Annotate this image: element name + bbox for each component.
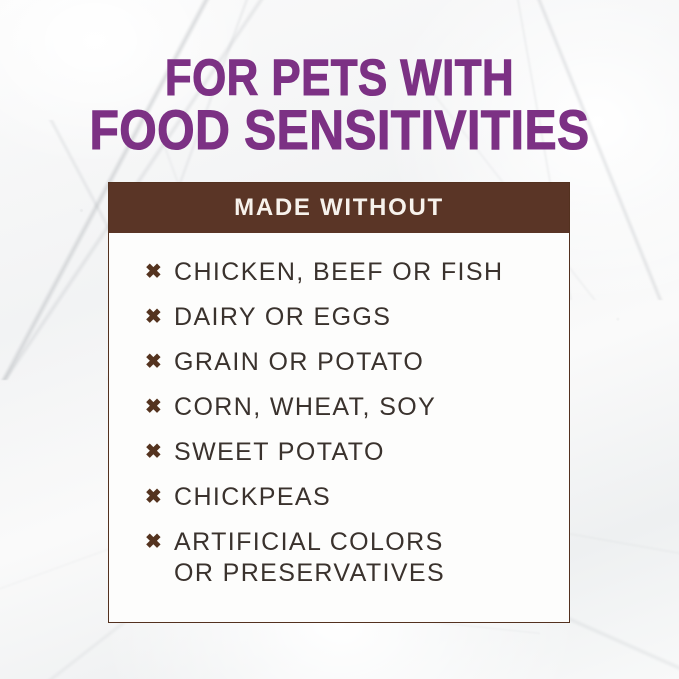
list-item: ✖ SWEET POTATO: [145, 437, 551, 468]
list-item: ✖ DAIRY OR EGGS: [145, 302, 551, 333]
made-without-card-body: ✖ CHICKEN, BEEF OR FISH ✖ DAIRY OR EGGS …: [109, 233, 569, 589]
list-item: ✖ ARTIFICIAL COLORS OR PRESERVATIVES: [145, 527, 551, 589]
page-title-line-2: FOOD SENSITIVITIES: [48, 104, 632, 156]
list-item: ✖ CHICKEN, BEEF OR FISH: [145, 257, 551, 288]
list-item-label: CHICKEN, BEEF OR FISH: [166, 257, 503, 288]
made-without-card: MADE WITHOUT ✖ CHICKEN, BEEF OR FISH ✖ D…: [108, 182, 570, 623]
list-item: ✖ CORN, WHEAT, SOY: [145, 392, 551, 423]
list-item-label: SWEET POTATO: [166, 437, 385, 468]
made-without-header-title: MADE WITHOUT: [234, 194, 444, 222]
list-item: ✖ CHICKPEAS: [145, 482, 551, 513]
cross-icon: ✖: [145, 437, 166, 467]
list-item-label: CHICKPEAS: [166, 482, 331, 513]
cross-icon: ✖: [145, 347, 166, 377]
cross-icon: ✖: [145, 257, 166, 287]
cross-icon: ✖: [145, 392, 166, 422]
excluded-ingredients-list: ✖ CHICKEN, BEEF OR FISH ✖ DAIRY OR EGGS …: [109, 257, 569, 589]
list-item: ✖ GRAIN OR POTATO: [145, 347, 551, 378]
list-item-label: GRAIN OR POTATO: [166, 347, 424, 378]
page-title-line-1: FOR PETS WITH: [48, 52, 632, 104]
cross-icon: ✖: [145, 302, 166, 332]
cross-icon: ✖: [145, 527, 166, 557]
list-item-label: DAIRY OR EGGS: [166, 302, 391, 333]
page-title: FOR PETS WITH FOOD SENSITIVITIES: [48, 52, 632, 156]
list-item-label: CORN, WHEAT, SOY: [166, 392, 436, 423]
cross-icon: ✖: [145, 482, 166, 512]
list-item-label: ARTIFICIAL COLORS OR PRESERVATIVES: [166, 527, 445, 589]
poster-canvas: FOR PETS WITH FOOD SENSITIVITIES MADE WI…: [0, 0, 679, 679]
made-without-card-header: MADE WITHOUT: [109, 183, 569, 233]
